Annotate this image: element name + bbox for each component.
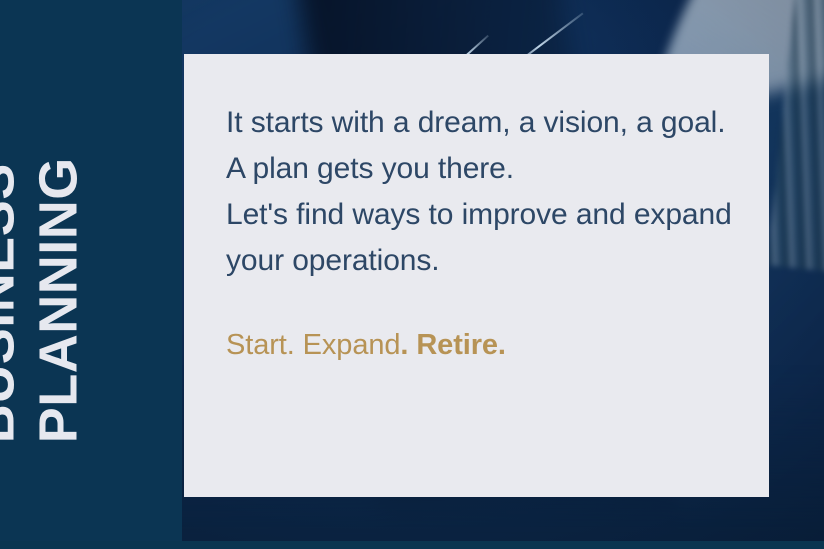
content-card: It starts with a dream, a vision, a goal… xyxy=(184,54,769,497)
tagline-regular-part: Start. Expand xyxy=(226,329,400,361)
body-copy: It starts with a dream, a vision, a goal… xyxy=(226,100,756,284)
body-line-3: Let's find ways to improve and expand yo… xyxy=(226,192,756,284)
tagline: Start. Expand. Retire. xyxy=(226,328,769,362)
bottom-strip xyxy=(0,541,824,549)
vertical-title-planning: PLANNING xyxy=(34,157,85,443)
body-line-1: It starts with a dream, a vision, a goal… xyxy=(226,100,756,146)
body-line-2: A plan gets you there. xyxy=(226,146,756,192)
slide-canvas: BUSINESS PLANNING It starts with a dream… xyxy=(0,0,824,549)
left-navy-band: BUSINESS PLANNING xyxy=(0,0,182,549)
tagline-strong-part: . Retire. xyxy=(400,329,505,361)
vertical-title-business: BUSINESS xyxy=(0,163,22,443)
vertical-title-group: BUSINESS PLANNING xyxy=(0,0,182,549)
